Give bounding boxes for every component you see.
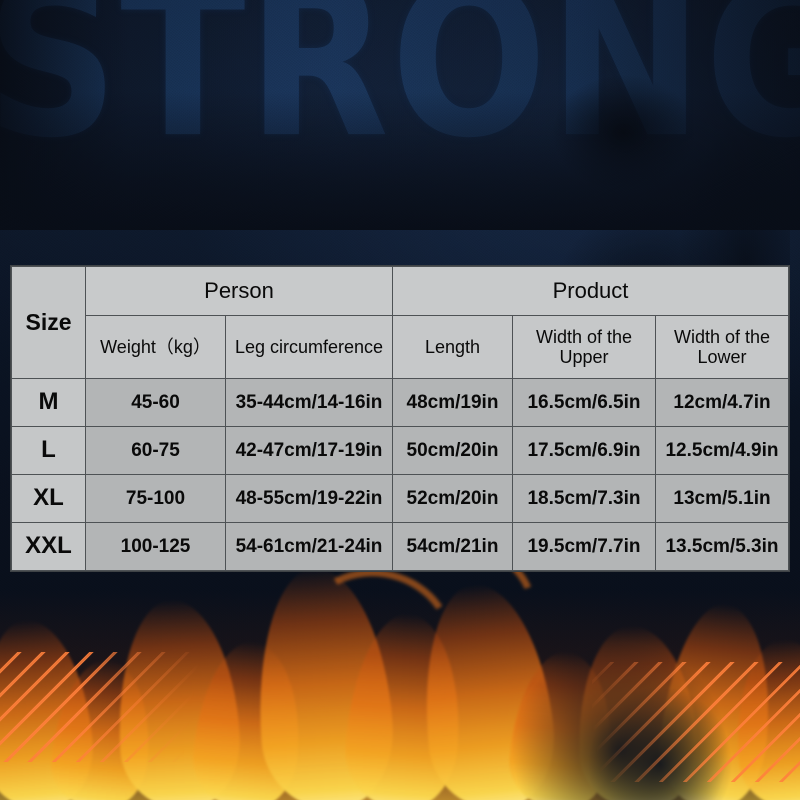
header-size: Size [12,267,86,379]
size-chart-table: Size Person Product Weight（kg） Leg circu… [11,266,789,571]
cell-leg: 54-61cm/21-24in [226,523,393,571]
cell-width-lower: 13.5cm/5.3in [656,523,789,571]
cell-leg: 35-44cm/14-16in [226,379,393,427]
cell-width-upper: 18.5cm/7.3in [513,475,656,523]
cell-leg: 48-55cm/19-22in [226,475,393,523]
cell-size: L [12,427,86,475]
table-header-sub-row: Weight（kg） Leg circumference Length Widt… [12,316,789,379]
cell-weight: 60-75 [86,427,226,475]
header-weight: Weight（kg） [86,316,226,379]
cell-width-upper: 16.5cm/6.5in [513,379,656,427]
cell-width-lower: 13cm/5.1in [656,475,789,523]
hatch-stripes-right [592,662,800,782]
header-product: Product [393,267,789,316]
table-row: M 45-60 35-44cm/14-16in 48cm/19in 16.5cm… [12,379,789,427]
cell-weight: 45-60 [86,379,226,427]
cell-length: 52cm/20in [393,475,513,523]
cell-length: 54cm/21in [393,523,513,571]
header-width-lower: Width of the Lower [656,316,789,379]
cell-weight: 75-100 [86,475,226,523]
product-size-chart-image: STRONGER Siz [0,0,800,800]
header-length: Length [393,316,513,379]
size-chart-table-container: Size Person Product Weight（kg） Leg circu… [11,266,788,571]
header-width-upper: Width of the Upper [513,316,656,379]
cell-leg: 42-47cm/17-19in [226,427,393,475]
cell-weight: 100-125 [86,523,226,571]
cell-width-upper: 17.5cm/6.9in [513,427,656,475]
table-header-group-row: Size Person Product [12,267,789,316]
cell-length: 48cm/19in [393,379,513,427]
cell-width-lower: 12.5cm/4.9in [656,427,789,475]
cell-length: 50cm/20in [393,427,513,475]
table-row: L 60-75 42-47cm/17-19in 50cm/20in 17.5cm… [12,427,789,475]
table-row: XXL 100-125 54-61cm/21-24in 54cm/21in 19… [12,523,789,571]
hatch-stripes-left [0,652,200,762]
header-person: Person [86,267,393,316]
cell-size: M [12,379,86,427]
cell-width-lower: 12cm/4.7in [656,379,789,427]
header-leg-circumference: Leg circumference [226,316,393,379]
cell-size: XL [12,475,86,523]
cell-width-upper: 19.5cm/7.7in [513,523,656,571]
table-row: XL 75-100 48-55cm/19-22in 52cm/20in 18.5… [12,475,789,523]
cell-size: XXL [12,523,86,571]
